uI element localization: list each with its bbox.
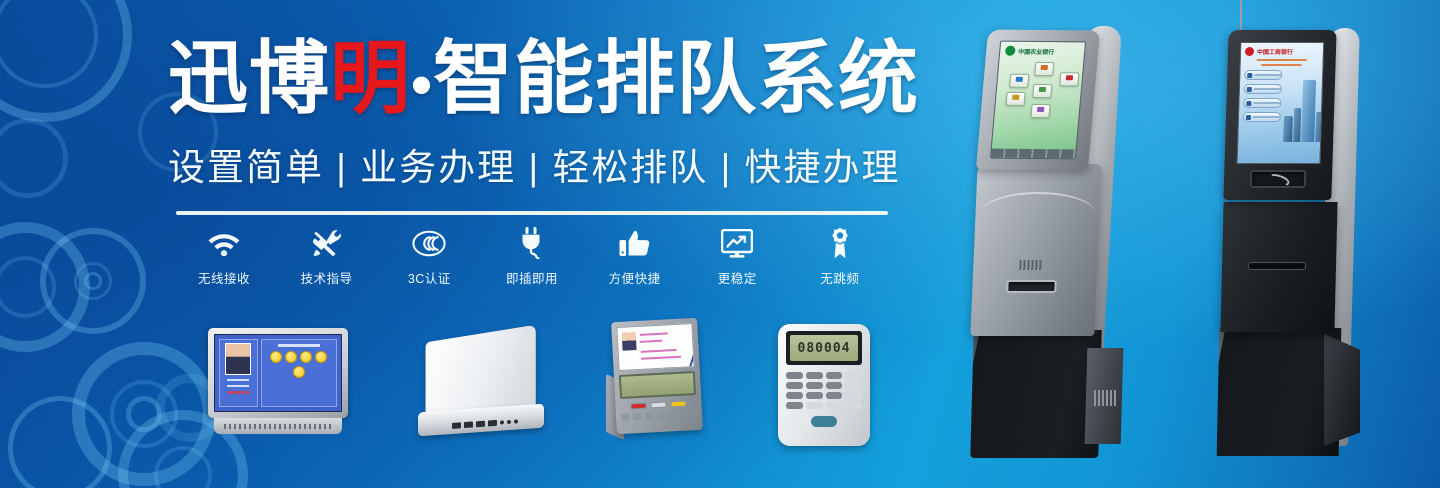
kiosk-body	[1220, 202, 1337, 332]
keypad-lcd-frame: 080004	[786, 331, 862, 365]
kiosk-base	[970, 330, 1102, 458]
product-evaluation-monitor	[208, 328, 348, 440]
kiosk-bank-header: 中国工商银行	[1241, 43, 1323, 56]
bank-name: 中国农业银行	[1018, 46, 1055, 55]
kiosk-icbc: 中国工商银行	[1212, 16, 1384, 476]
power-plug-icon	[518, 226, 546, 260]
bank-logo-icon	[1245, 47, 1254, 56]
building	[1284, 116, 1294, 142]
menu-tile[interactable]	[1032, 84, 1052, 98]
keypad-key[interactable]	[845, 392, 862, 399]
menu-tile[interactable]	[1030, 104, 1050, 118]
feature-label: 技术指导	[301, 268, 353, 287]
monitor-screen	[214, 334, 342, 412]
menu-tile[interactable]	[1005, 92, 1025, 106]
kiosk-head: 中国工商银行	[1223, 30, 1336, 200]
feature-item-plug-and-play: 即插即用	[484, 226, 580, 287]
monitor-vents	[224, 424, 332, 429]
keypad-key[interactable]	[845, 382, 862, 389]
rating-stars	[228, 391, 249, 394]
title-separator-dot: •	[411, 51, 433, 118]
kiosk-base	[1217, 328, 1342, 456]
menu-tile[interactable]	[1059, 72, 1079, 86]
rating-face[interactable]	[315, 351, 327, 363]
feature-list: 无线接收 技术指导 3C认证	[176, 226, 888, 288]
kiosk-vent	[1094, 390, 1118, 406]
keypad-key[interactable]	[826, 402, 843, 409]
customer-name-line	[227, 379, 249, 381]
keypad-key[interactable]	[786, 382, 803, 389]
ticket-dispenser-slot	[1006, 280, 1057, 293]
rating-face[interactable]	[270, 351, 282, 363]
product-showcase: 080004	[0, 312, 900, 452]
wifi-icon	[207, 226, 241, 260]
feature-item-wireless: 无线接收	[176, 226, 272, 287]
feature-label: 3C认证	[408, 268, 451, 287]
product-queue-keypad-caller: 080004	[778, 324, 870, 446]
evaluator-id-card	[616, 323, 694, 371]
keypad-key[interactable]	[806, 402, 823, 409]
nfc-icon	[1267, 172, 1291, 188]
feature-item-convenient: 方便快捷	[587, 226, 683, 287]
ccc-certification-icon	[412, 226, 446, 260]
feature-item-tech-support: 技术指导	[279, 226, 375, 287]
keypad-key[interactable]	[826, 392, 843, 399]
rating-face-group	[262, 347, 336, 382]
feature-label: 无跳频	[820, 268, 859, 287]
kiosk-touchscreen[interactable]: 中国工商银行	[1236, 42, 1324, 164]
feature-label: 无线接收	[198, 268, 250, 287]
card-accent-line	[686, 323, 695, 371]
menu-tile[interactable]	[1034, 62, 1054, 76]
menu-tile[interactable]	[1009, 74, 1029, 88]
evaluator-button-satisfied[interactable]	[670, 400, 686, 407]
customer-photo	[225, 343, 251, 375]
kiosk-abc: 中国农业银行	[968, 18, 1152, 470]
keypad-call-button[interactable]	[811, 416, 837, 427]
keypad-case: 080004	[778, 324, 870, 446]
customer-id-line	[227, 385, 249, 387]
building	[1316, 112, 1325, 142]
menu-button[interactable]	[1244, 84, 1283, 94]
kiosk-body-highlight	[980, 192, 1097, 214]
keypad-key[interactable]	[806, 372, 823, 379]
customer-info-panel	[219, 339, 258, 407]
menu-button[interactable]	[1243, 112, 1282, 122]
keypad-key[interactable]	[786, 402, 803, 409]
bank-logo-icon	[1005, 46, 1016, 56]
product-desktop-evaluator	[604, 320, 714, 446]
thumbs-up-icon	[619, 226, 651, 260]
keypad-key[interactable]	[786, 372, 803, 379]
kiosk-head: 中国农业银行	[976, 30, 1100, 171]
rating-panel	[261, 339, 337, 407]
building	[1302, 80, 1317, 142]
title-part-2: 智能排队系统	[433, 34, 919, 123]
evaluator-buttons	[620, 400, 696, 410]
kiosk-menu-buttons	[1242, 70, 1283, 142]
promo-banner: 迅博明•智能排队系统 设置简单 | 业务办理 | 轻松排队 | 快捷办理 无线接…	[0, 0, 1440, 488]
title-accent-char: 明	[330, 34, 411, 123]
kiosk-screen-columns	[1238, 66, 1322, 142]
feature-label: 即插即用	[506, 268, 558, 287]
feature-item-no-hopping: 无跳频	[792, 226, 888, 287]
feature-item-stability: 更稳定	[689, 226, 785, 287]
bank-name: 中国工商银行	[1257, 47, 1293, 56]
printer-icon	[1019, 260, 1041, 270]
staff-photo	[622, 332, 637, 351]
evaluator-button-neutral[interactable]	[650, 402, 666, 409]
header-accent-line	[1256, 59, 1307, 61]
header-accent-line	[1262, 64, 1301, 66]
kiosk-screen-footer-bar	[991, 149, 1076, 159]
monitor-bezel	[208, 328, 348, 418]
keypad-key[interactable]	[786, 392, 803, 399]
gear-shape	[0, 110, 76, 206]
title-part-1: 迅博	[168, 34, 330, 123]
kiosk-body	[970, 164, 1101, 336]
menu-button[interactable]	[1244, 70, 1283, 80]
award-ribbon-icon	[828, 226, 852, 260]
product-wireless-router	[418, 334, 544, 438]
feature-label: 更稳定	[718, 268, 757, 287]
kiosk-menu-tiles	[994, 60, 1084, 127]
skyline-graphic	[1284, 70, 1319, 142]
ticket-dispenser-slot	[1248, 262, 1306, 270]
horizontal-divider	[176, 211, 888, 215]
keypad-key[interactable]	[826, 382, 843, 389]
feature-item-3c: 3C认证	[381, 226, 477, 287]
page-title: 迅博明•智能排队系统	[168, 36, 908, 128]
tools-icon	[312, 226, 342, 260]
kiosk-touchscreen[interactable]: 中国农业银行	[990, 41, 1086, 160]
keypad-key[interactable]	[845, 372, 862, 379]
keypad-keys[interactable]	[786, 372, 862, 409]
building	[1294, 108, 1302, 142]
menu-button[interactable]	[1243, 98, 1282, 108]
rating-face[interactable]	[300, 351, 312, 363]
evaluator-label-strip	[621, 410, 697, 421]
keypad-display: 080004	[790, 335, 858, 361]
monitor-chart-icon	[721, 226, 753, 260]
evaluator-shell	[611, 318, 703, 434]
evaluator-button-dissatisfied[interactable]	[630, 403, 646, 410]
keypad-key[interactable]	[845, 402, 862, 409]
page-subtitle: 设置简单 | 业务办理 | 轻松排队 | 快捷办理	[168, 144, 908, 192]
feature-label: 方便快捷	[609, 268, 661, 287]
evaluator-lcd	[619, 371, 696, 399]
keypad-key[interactable]	[806, 392, 823, 399]
card-reader[interactable]	[1250, 170, 1307, 188]
rating-face[interactable]	[293, 366, 305, 378]
kiosk-side-cabinet	[1324, 334, 1360, 446]
headline-block: 迅博明•智能排队系统 设置简单 | 业务办理 | 轻松排队 | 快捷办理	[168, 36, 908, 192]
rating-face[interactable]	[285, 351, 297, 363]
gear-shape	[0, 0, 150, 140]
kiosk-bank-header: 中国农业银行	[1000, 42, 1085, 57]
keypad-key[interactable]	[826, 372, 843, 379]
keypad-key[interactable]	[806, 382, 823, 389]
